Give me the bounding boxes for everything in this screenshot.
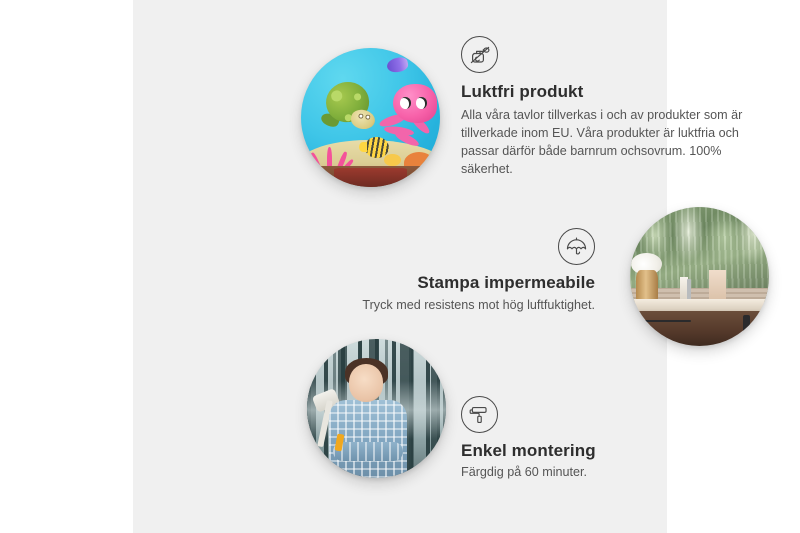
feature-odorless: Luktfri produkt Alla våra tavlor tillver… (461, 36, 761, 179)
woman-painter-photo (307, 339, 446, 478)
photo-bathroom (630, 207, 769, 346)
sea-turtle (323, 81, 384, 137)
feature-description: Tryck med resistens mot hög luftfuktighe… (295, 297, 595, 315)
no-odor-perfume-bottle-icon (461, 36, 498, 73)
feature-description: Alla våra tavlor tillverkas i och av pro… (461, 107, 761, 179)
feature-title: Enkel montering (461, 441, 761, 461)
content-panel: Luktfri produkt Alla våra tavlor tillver… (133, 0, 667, 533)
feature-title: Stampa impermeabile (295, 273, 595, 293)
feature-waterproof: Stampa impermeabile Tryck med resistens … (295, 228, 595, 315)
bathroom-photo (630, 207, 769, 346)
small-yellow-fish (384, 154, 401, 167)
yellow-striped-fish (365, 137, 389, 158)
woman-folded-arms (333, 442, 403, 461)
octopus-head (393, 84, 437, 123)
umbrella-icon (558, 228, 595, 265)
paint-roller-icon (461, 396, 498, 433)
shipwreck (334, 168, 406, 187)
turtle-head (350, 109, 377, 131)
ocean-illustration (301, 48, 440, 187)
photo-ocean (301, 48, 440, 187)
photo-woman-painter (307, 339, 446, 478)
feature-description: Färgdig på 60 minuter. (461, 464, 761, 482)
wood-vanity-cabinet (630, 311, 769, 346)
woman-face (349, 364, 384, 402)
screenshot-stage: Luktfri produkt Alla våra tavlor tillver… (0, 0, 800, 533)
feature-assembly: Enkel montering Färgdig på 60 minuter. (461, 396, 761, 482)
feature-title: Luktfri produkt (461, 82, 761, 102)
octopus (379, 84, 437, 151)
